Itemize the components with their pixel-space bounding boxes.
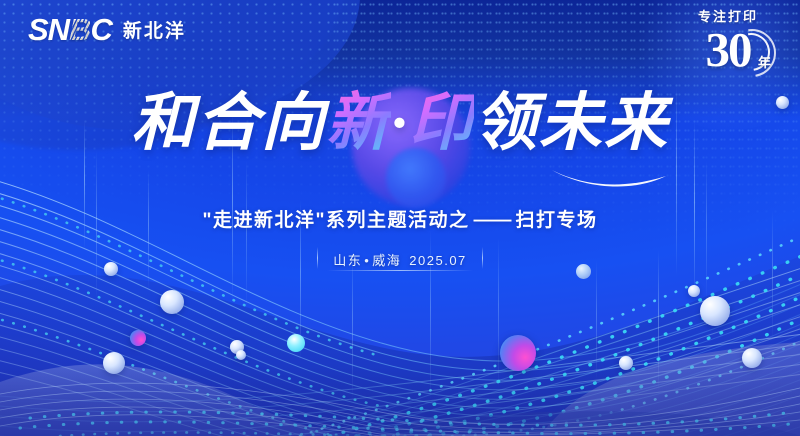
- brand-logo[interactable]: SNBC 新北洋: [28, 14, 186, 45]
- brand-name-cn: 新北洋: [123, 16, 186, 43]
- event-separator: •: [362, 253, 372, 268]
- event-meta-underline: [327, 270, 473, 271]
- sphere-pink-5: [130, 330, 146, 346]
- sphere-white-12: [236, 350, 246, 360]
- main-title-wrap: 和合向新·印领未来: [0, 92, 800, 155]
- sphere-white-2: [103, 352, 125, 374]
- page-title: 和合向新·印领未来: [131, 92, 669, 155]
- anniversary-unit: 年: [758, 52, 771, 71]
- sphere-white-7: [688, 285, 700, 297]
- title-dot: ·: [391, 88, 409, 158]
- title-segment-2-accent: 新: [326, 88, 391, 158]
- sphere-cyan-4: [287, 334, 305, 352]
- subtitle: "走进新北洋"系列主题活动之——扫打专场: [0, 205, 800, 232]
- sphere-white-1: [160, 290, 184, 314]
- logo-text-b: B: [69, 12, 90, 47]
- subtitle-quote-open: ": [202, 210, 213, 231]
- logo-text-c: C: [90, 12, 111, 47]
- subtitle-rest: 系列主题活动之: [326, 210, 470, 231]
- logo-text-sn: SN: [28, 12, 69, 47]
- title-segment-4: 领未来: [474, 88, 669, 158]
- sphere-white-9: [619, 356, 633, 370]
- sphere-white-8: [700, 296, 730, 326]
- event-banner: SNBC 新北洋 专注打印 30 年 和合向新·印领未来 "走进新北洋"系列主题…: [0, 0, 800, 436]
- subtitle-dash: ——: [470, 210, 516, 231]
- title-brush-swoosh: [550, 166, 668, 192]
- event-date: 2025.07: [409, 253, 467, 268]
- subtitle-series: 走进新北洋: [213, 210, 316, 231]
- event-city: 威海: [372, 253, 401, 268]
- title-segment-3-accent: 印: [409, 88, 474, 158]
- anniversary-number-wrap: 30 年: [676, 25, 780, 75]
- light-streak-14: [596, 260, 597, 380]
- title-segment-1: 和合向: [131, 88, 326, 158]
- snbc-logo: SNBC: [28, 14, 112, 45]
- sphere-pink-10: [500, 335, 536, 371]
- sphere-white-11: [776, 96, 789, 109]
- anniversary-badge: 专注打印 30 年: [676, 10, 780, 84]
- sphere-blue-6: [576, 264, 591, 279]
- subtitle-session: 扫打专场: [516, 210, 598, 231]
- subtitle-quote-close: ": [315, 210, 326, 231]
- sphere-white-13: [742, 348, 762, 368]
- light-streak-4: [246, 160, 247, 310]
- event-province: 山东: [333, 253, 362, 268]
- sphere-white-0: [104, 262, 118, 276]
